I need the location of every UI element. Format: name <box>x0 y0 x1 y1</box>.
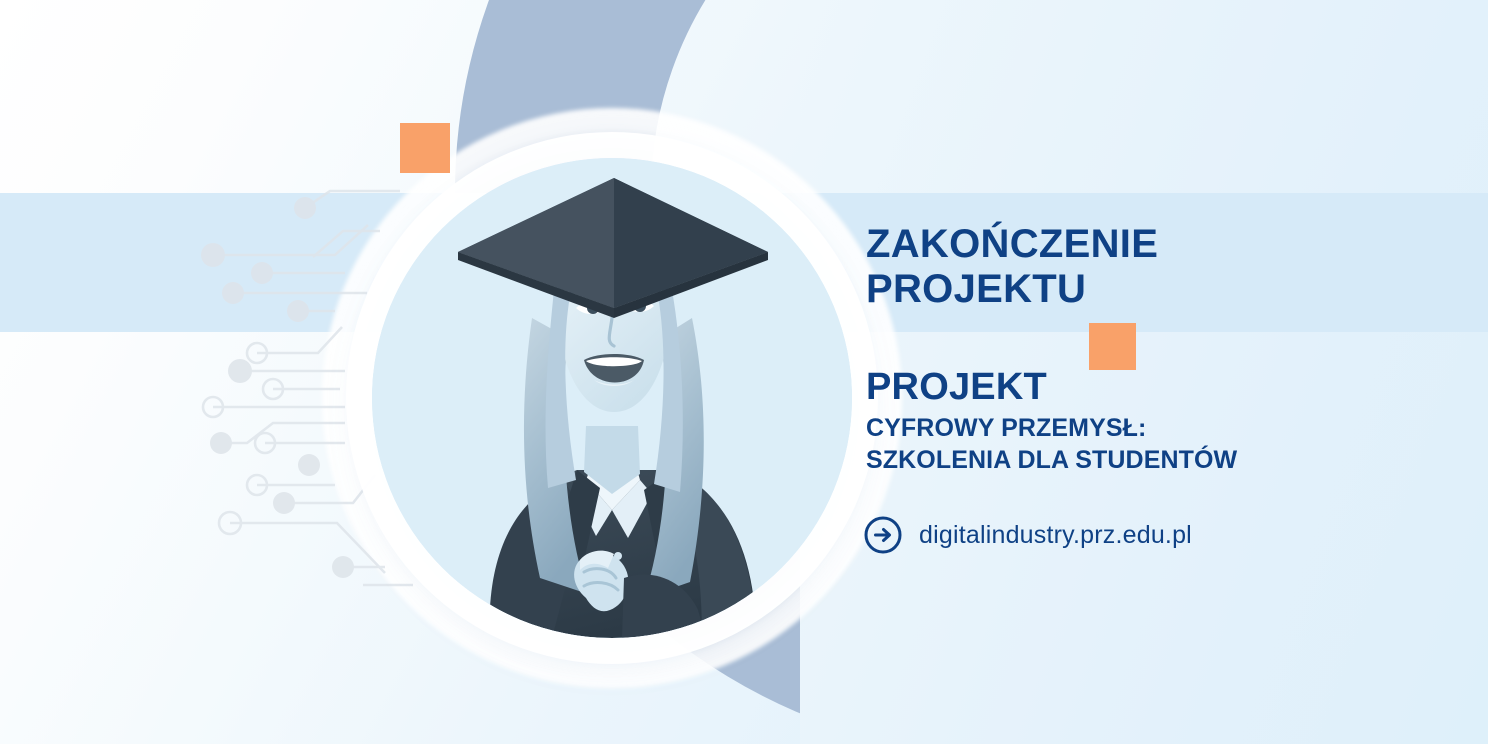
arrow-right-circle-icon[interactable] <box>864 516 902 554</box>
heading-block: ZAKOŃCZENIE PROJEKTU <box>866 222 1426 312</box>
orange-accent-square-middle <box>1089 323 1136 370</box>
project-subtitle-line-1: CYFROWY PRZEMYSŁ: <box>866 412 1466 444</box>
project-subtitle-line-2: SZKOLENIA DLA STUDENTÓW <box>866 444 1466 476</box>
website-link[interactable]: digitalindustry.prz.edu.pl <box>864 516 1192 554</box>
title-line-2: PROJEKTU <box>866 267 1426 312</box>
project-block: PROJEKT CYFROWY PRZEMYSŁ: SZKOLENIA DLA … <box>866 368 1466 476</box>
orange-accent-square-top <box>400 123 450 173</box>
page-title: ZAKOŃCZENIE PROJEKTU <box>866 222 1426 312</box>
graduate-photo-inner <box>372 158 852 638</box>
graduate-photo <box>372 158 852 638</box>
project-completion-banner: ZAKOŃCZENIE PROJEKTU PROJEKT CYFROWY PRZ… <box>0 0 1488 744</box>
project-label: PROJEKT <box>866 368 1466 408</box>
project-subtitle: CYFROWY PRZEMYSŁ: SZKOLENIA DLA STUDENTÓ… <box>866 412 1466 476</box>
website-url-text[interactable]: digitalindustry.prz.edu.pl <box>919 523 1192 548</box>
title-line-1: ZAKOŃCZENIE <box>866 222 1426 267</box>
graduate-portrait-illustration <box>372 158 852 638</box>
